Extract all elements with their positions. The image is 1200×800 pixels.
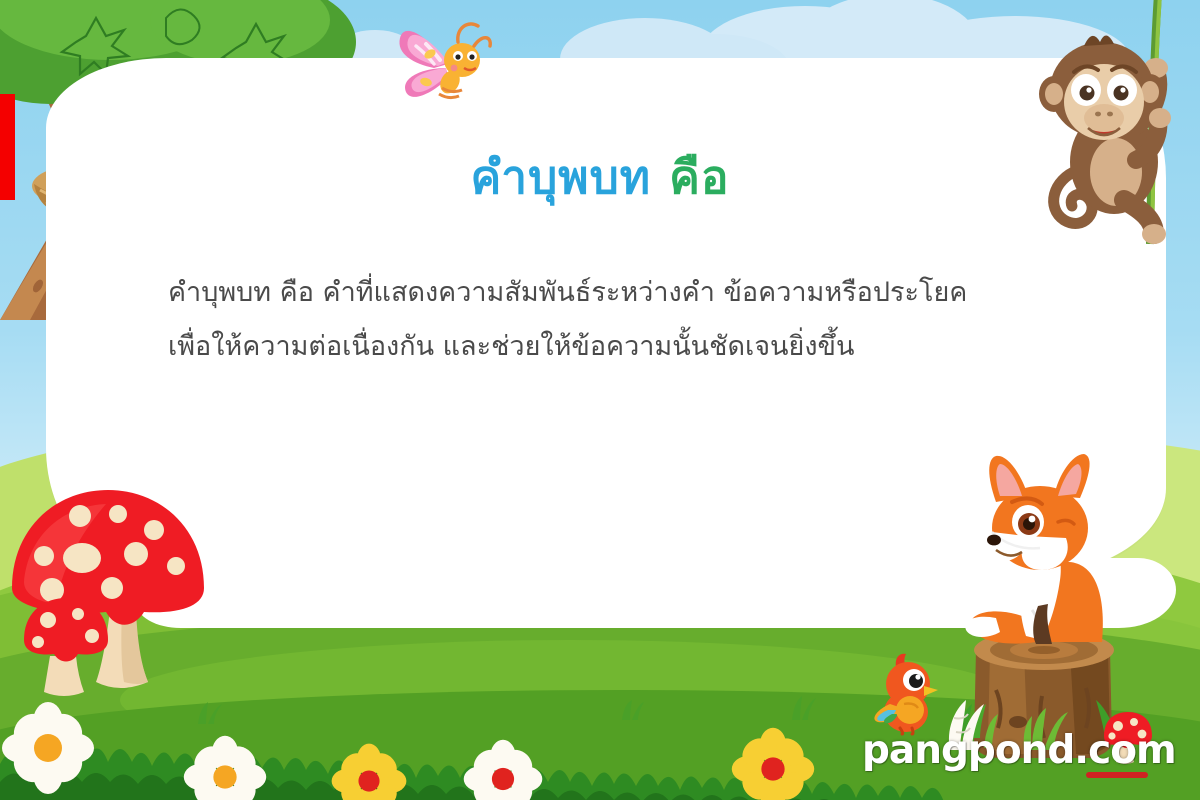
flower-yellow-icon [330, 742, 408, 800]
monkey-on-vine-illustration [1018, 0, 1200, 244]
watermark-brand: pangpond.com [862, 728, 1176, 773]
definition-line-1: คำบุพบท คือ คำที่แสดงความสัมพันธ์ระหว่าง… [168, 266, 1088, 320]
watermark-underline [1086, 772, 1148, 778]
flower-white-icon [182, 734, 268, 800]
grass-tuft-icon [786, 690, 826, 720]
definition-text: คำบุพบท คือ คำที่แสดงความสัมพันธ์ระหว่าง… [168, 266, 1088, 374]
slide-canvas: คำบุพบทคือ คำบุพบท คือ คำที่แสดงความสัมพ… [0, 0, 1200, 800]
flower-white-red-center-icon [462, 738, 544, 800]
grass-tuft-icon [192, 696, 232, 724]
title-part-green: คือ [669, 150, 729, 204]
page-title: คำบุพบทคือ [0, 150, 1200, 205]
mushrooms-illustration [0, 460, 254, 700]
grass-tuft-icon [616, 694, 652, 720]
flower-yellow-icon [730, 726, 816, 800]
butterfly-icon [386, 12, 492, 108]
definition-line-2: เพื่อให้ความต่อเนื่องกัน และช่วยให้ข้อคว… [168, 320, 1088, 374]
panel-top-fill [176, 58, 1136, 148]
title-part-blue: คำบุพบท [470, 150, 651, 204]
flower-white-icon [0, 700, 96, 796]
